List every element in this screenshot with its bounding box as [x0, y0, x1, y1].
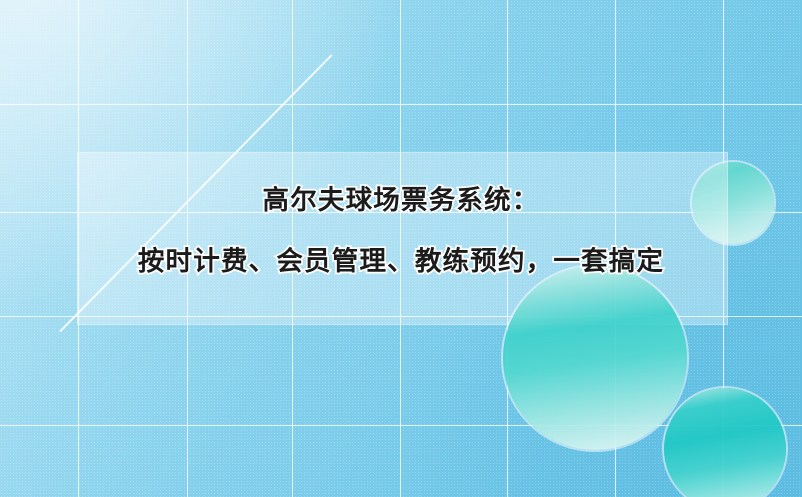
decor-circle-center-large — [503, 266, 687, 450]
promo-banner: 高尔夫球场票务系统： 按时计费、会员管理、教练预约，一套搞定 — [0, 0, 802, 497]
grid-line-horizontal — [0, 104, 802, 105]
headline-text-block: 高尔夫球场票务系统： 按时计费、会员管理、教练预约，一套搞定 — [0, 188, 802, 275]
headline-line-1: 高尔夫球场票务系统： — [0, 188, 802, 215]
headline-line-2: 按时计费、会员管理、教练预约，一套搞定 — [0, 249, 802, 276]
